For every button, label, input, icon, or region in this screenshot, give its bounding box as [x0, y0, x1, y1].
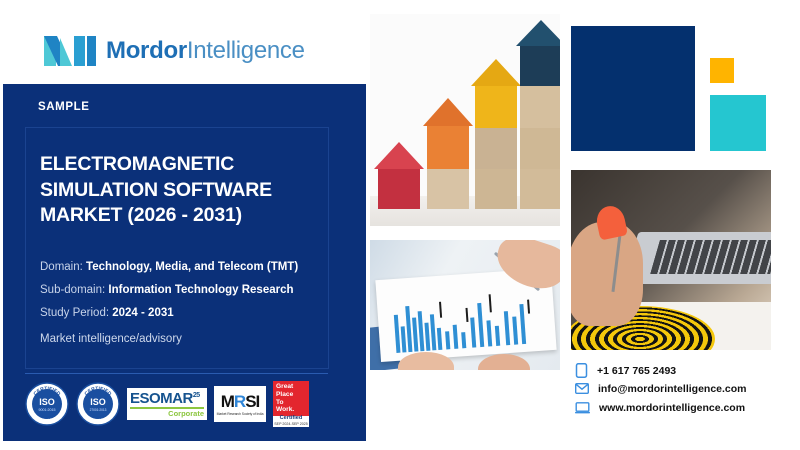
mrsi-sub-text: Market Research Society of India: [217, 412, 264, 416]
svg-text:9001:2015: 9001:2015: [39, 408, 56, 412]
meta-value-study-period: 2024 - 2031: [112, 307, 173, 319]
esomar-main-text: ESOMAR25: [127, 391, 207, 406]
esomar-superscript: 25: [193, 392, 200, 399]
certification-badges: CERTIFIED COMPANY ISO 9001:2015 CERTIFIE…: [25, 379, 328, 429]
svg-text:ISO: ISO: [39, 397, 55, 407]
page-title: ELECTROMAGNETIC SIMULATION SOFTWARE MARK…: [40, 152, 318, 229]
meta-label-subdomain: Sub-domain:: [40, 284, 105, 296]
brand-name: MordorIntelligence: [106, 39, 305, 63]
brand-name-light: Intelligence: [187, 37, 305, 64]
mrsi-badge: MRSI Market Research Society of India: [214, 386, 266, 422]
report-meta: Domain: Technology, Media, and Telecom (…: [40, 261, 330, 329]
gptw-dates-text: SEP 2024-SEP 2025: [274, 423, 307, 427]
great-place-to-work-badge: Great Place To Work. Certified SEP 2024-…: [273, 381, 309, 427]
mrsi-letter-r: R: [234, 392, 245, 411]
meta-label-study-period: Study Period:: [40, 307, 109, 319]
panel-divider: [25, 373, 328, 374]
meta-row-study-period: Study Period: 2024 - 2031: [40, 307, 330, 321]
house-blocks-graphic: [370, 14, 560, 226]
contact-phone-text: +1 617 765 2493: [597, 365, 676, 377]
contact-email-text: info@mordorintelligence.com: [598, 383, 747, 395]
laptop-keyboard: [650, 240, 771, 274]
monitor-icon: [575, 402, 590, 414]
cyan-block: [710, 95, 766, 151]
title-box: ELECTROMAGNETIC SIMULATION SOFTWARE MARK…: [25, 127, 329, 369]
esomar-badge: ESOMAR25 Corporate: [127, 388, 207, 420]
brand-name-bold: Mordor: [106, 37, 187, 64]
contact-email[interactable]: info@mordorintelligence.com: [575, 379, 795, 398]
meta-value-domain: Technology, Media, and Telecom (TMT): [86, 261, 298, 273]
dartboard-laptop-photo: [571, 170, 771, 350]
esomar-word: ESOMAR: [130, 390, 193, 407]
mordor-m-logo-icon: [44, 34, 96, 68]
gptw-line-1: Great: [276, 383, 306, 391]
contact-website-text: www.mordorintelligence.com: [599, 402, 745, 414]
contact-list: +1 617 765 2493 info@mordorintelligence.…: [575, 362, 795, 417]
navy-block: [571, 26, 695, 151]
mrsi-letters-si: SI: [245, 392, 259, 411]
meta-row-subdomain: Sub-domain: Information Technology Resea…: [40, 284, 330, 298]
meta-row-domain: Domain: Technology, Media, and Telecom (…: [40, 261, 330, 275]
svg-text:27001:2013: 27001:2013: [90, 408, 107, 412]
phone-icon: [575, 363, 588, 378]
gptw-line-4: Work.: [276, 406, 306, 414]
gptw-certified-block: Certified SEP 2024-SEP 2025: [273, 416, 309, 427]
meta-label-domain: Domain:: [40, 261, 83, 273]
sample-label: SAMPLE: [38, 101, 90, 113]
brand-logo[interactable]: MordorIntelligence: [44, 34, 305, 68]
iso-certified-company-badge: CERTIFIED COMPANY ISO 9001:2015: [25, 382, 69, 426]
iso-certified-badge: CERTIFIED COMPANY ISO 27001:2013: [76, 382, 120, 426]
contact-phone[interactable]: +1 617 765 2493: [575, 362, 795, 379]
meta-value-subdomain: Information Technology Research: [108, 284, 293, 296]
gptw-line-2: Place: [276, 391, 306, 399]
svg-text:ISO: ISO: [90, 397, 106, 407]
chart-paper-photo: [370, 240, 560, 370]
report-cover-page: MordorIntelligence SAMPLE ELECTROMAGNETI…: [0, 0, 800, 450]
orange-block: [710, 58, 734, 83]
gptw-red-block: Great Place To Work.: [273, 381, 309, 416]
cover-panel: SAMPLE ELECTROMAGNETIC SIMULATION SOFTWA…: [3, 84, 366, 441]
esomar-sub-text: Corporate: [127, 410, 207, 418]
mrsi-letter-m: M: [221, 392, 234, 411]
tagline: Market intelligence/advisory: [40, 333, 182, 345]
gptw-line-3: To: [276, 399, 306, 407]
wooden-house-blocks-photo: [370, 14, 560, 226]
envelope-icon: [575, 383, 589, 394]
contact-website[interactable]: www.mordorintelligence.com: [575, 398, 795, 417]
mrsi-wordmark: MRSI: [221, 393, 260, 410]
